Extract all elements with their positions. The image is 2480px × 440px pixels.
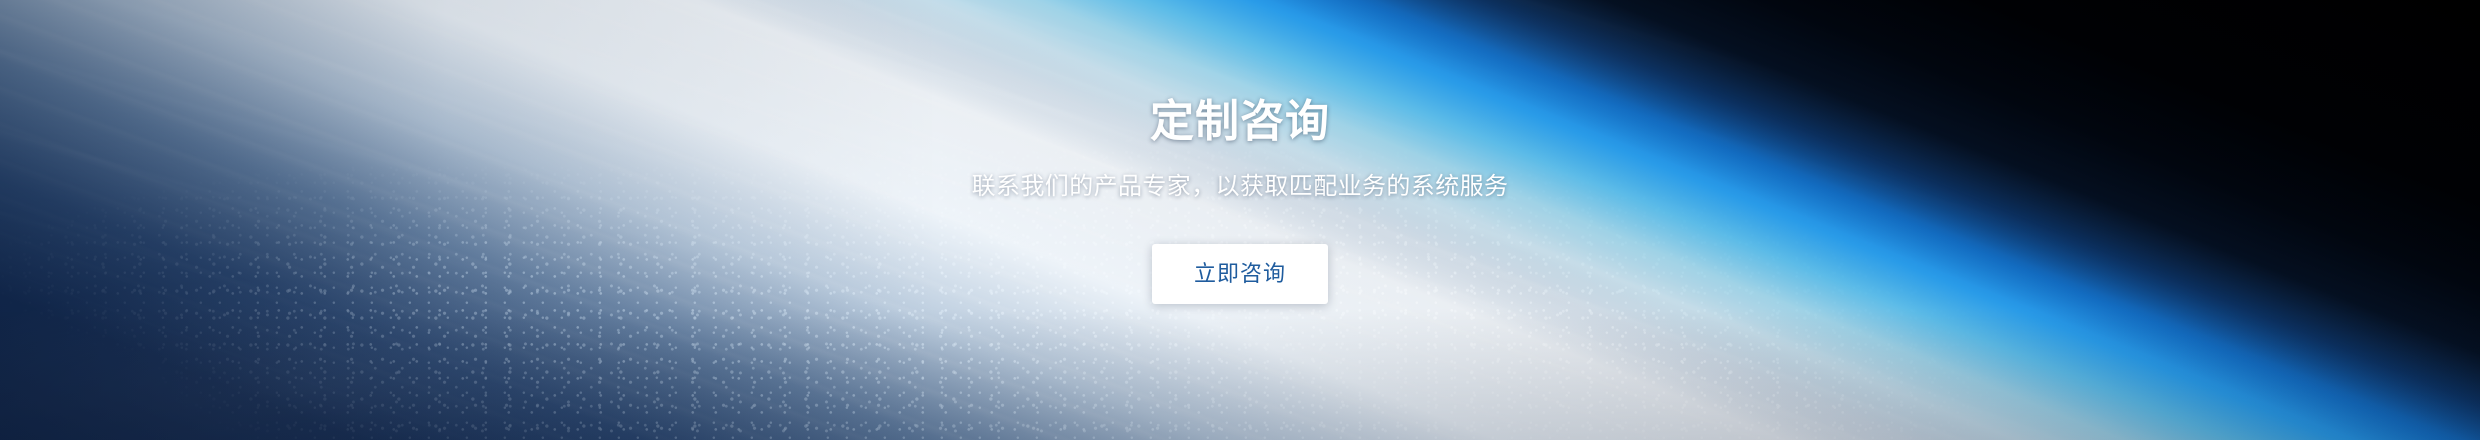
page-subtitle: 联系我们的产品专家，以获取匹配业务的系统服务 [972,172,1509,202]
customization-consultation-banner: 定制咨询 联系我们的产品专家，以获取匹配业务的系统服务 立即咨询 [0,0,2480,440]
consult-now-button[interactable]: 立即咨询 [1152,244,1328,304]
page-title: 定制咨询 [1150,96,1330,148]
banner-content: 定制咨询 联系我们的产品专家，以获取匹配业务的系统服务 立即咨询 [0,0,2480,440]
